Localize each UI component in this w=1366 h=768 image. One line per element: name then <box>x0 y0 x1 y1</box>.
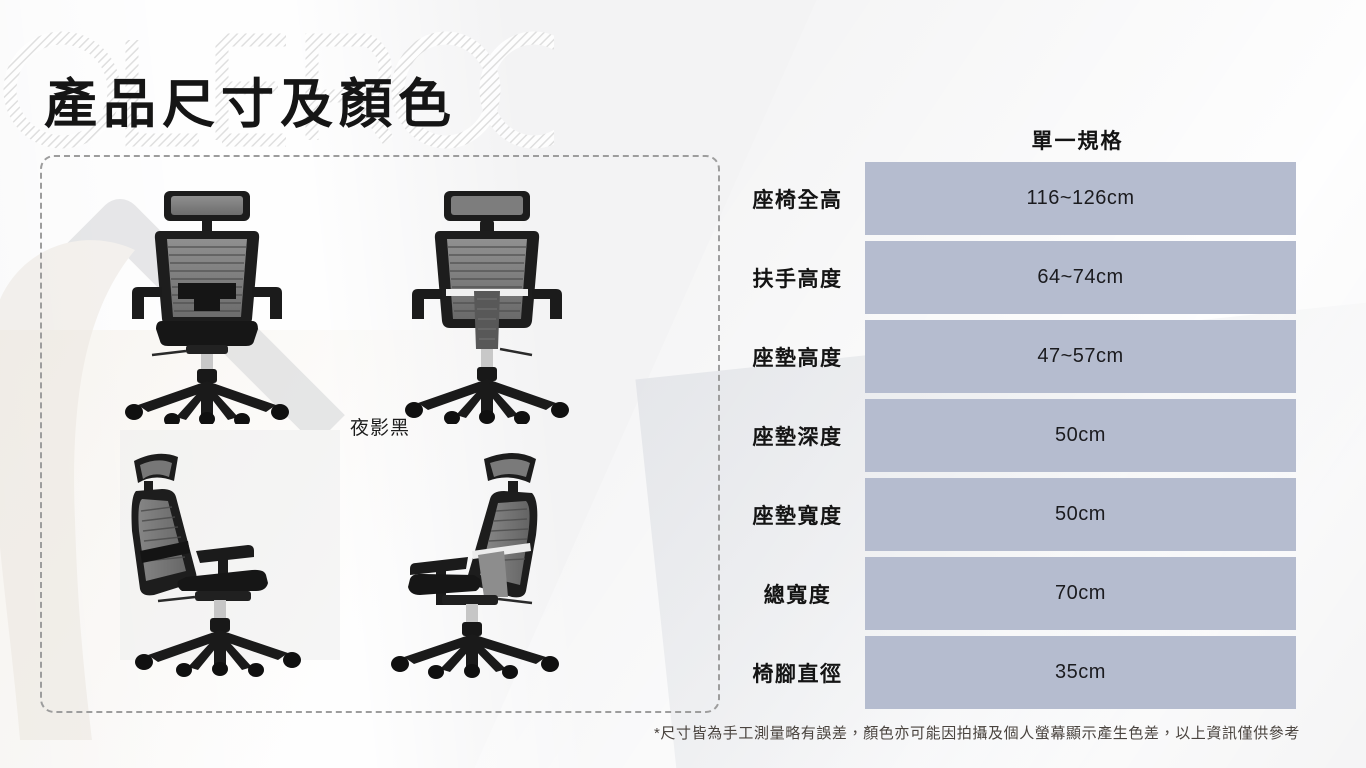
chair-side-view-image <box>100 439 310 684</box>
product-spec-page: 產品尺寸及顏色 <box>0 0 1366 768</box>
spec-label: 座墊寬度 <box>730 478 865 551</box>
specification-table: 單一規格 座椅全高 116~126cm 扶手高度 64~74cm 座墊高度 47… <box>730 118 1296 715</box>
table-row: 椅腳直徑 35cm <box>730 636 1296 709</box>
spec-label: 座椅全高 <box>730 162 865 235</box>
table-row: 扶手高度 64~74cm <box>730 241 1296 314</box>
spec-value: 64~74cm <box>865 241 1296 314</box>
spec-value: 70cm <box>865 557 1296 630</box>
spec-value: 35cm <box>865 636 1296 709</box>
disclaimer-footnote: *尺寸皆為手工測量略有誤差，顏色亦可能因拍攝及個人螢幕顯示產生色差，以上資訊僅供… <box>0 722 1300 743</box>
spec-label: 座墊高度 <box>730 320 865 393</box>
spec-value: 47~57cm <box>865 320 1296 393</box>
page-title: 產品尺寸及顏色 <box>44 62 457 138</box>
product-gallery: 夜影黑 <box>40 155 720 713</box>
spec-label: 座墊深度 <box>730 399 865 472</box>
chair-front-view-image <box>102 179 312 424</box>
color-option-label: 夜影黑 <box>42 413 718 440</box>
spec-table-header: 單一規格 <box>865 118 1290 162</box>
chair-rear-angle-view-image <box>380 439 590 684</box>
spec-label: 椅腳直徑 <box>730 636 865 709</box>
spec-value: 116~126cm <box>865 162 1296 235</box>
spec-value: 50cm <box>865 478 1296 551</box>
table-row: 座墊寬度 50cm <box>730 478 1296 551</box>
table-row: 座墊深度 50cm <box>730 399 1296 472</box>
spec-value: 50cm <box>865 399 1296 472</box>
table-row: 座椅全高 116~126cm <box>730 162 1296 235</box>
spec-label: 總寬度 <box>730 557 865 630</box>
chair-back-view-image <box>382 179 592 424</box>
table-row: 總寬度 70cm <box>730 557 1296 630</box>
table-row: 座墊高度 47~57cm <box>730 320 1296 393</box>
spec-label: 扶手高度 <box>730 241 865 314</box>
